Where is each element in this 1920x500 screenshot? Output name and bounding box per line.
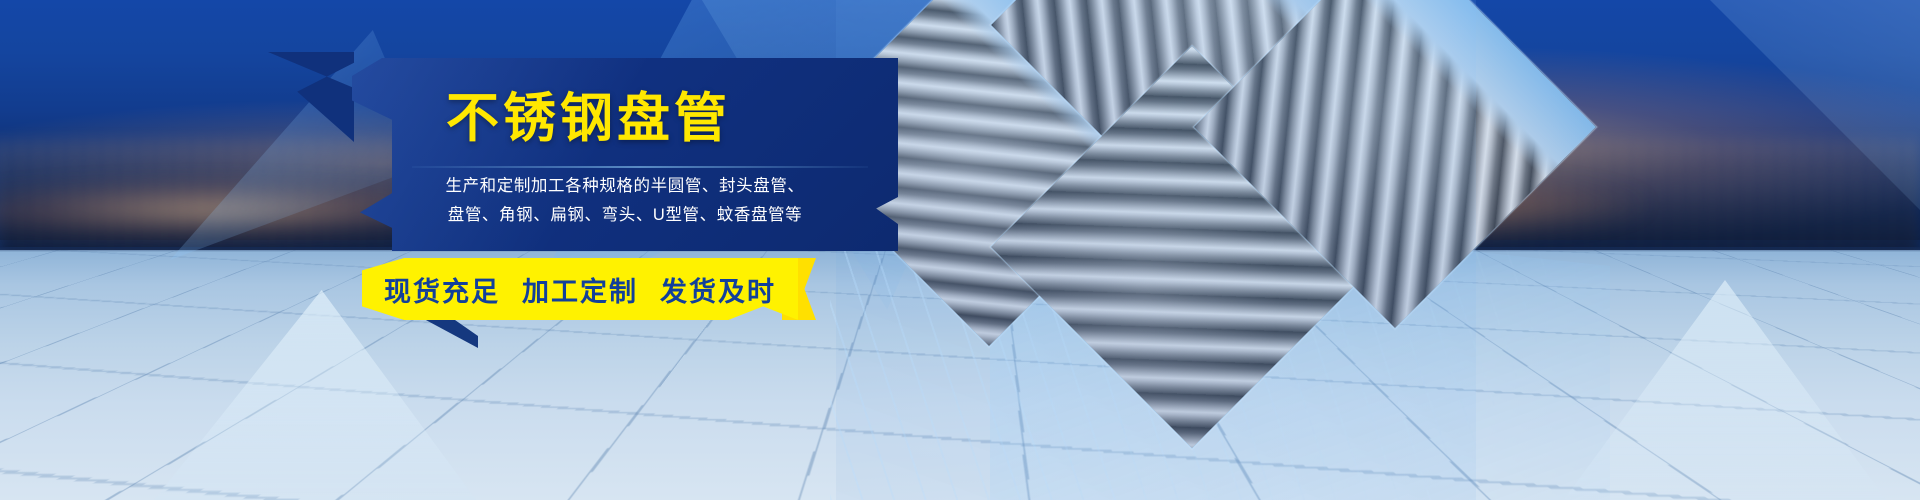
subtitle-line-2: 盘管、角钢、扁钢、弯头、U型管、蚊香盘管等 [352,201,898,225]
product-photo-collage [836,0,1476,500]
page-title: 不锈钢盘管 [446,92,876,145]
feature-item-2: 加工定制 [522,270,638,309]
feature-ribbon-text: 现货充足 加工定制 发货及时 [362,258,798,320]
promo-banner: 不锈钢盘管 生产和定制加工各种规格的半圆管、封头盘管、 盘管、角钢、扁钢、弯头、… [0,0,1920,500]
subtitle-line-1: 生产和定制加工各种规格的半圆管、封头盘管、 [352,172,898,196]
headline-divider [412,166,868,168]
feature-item-3: 发货及时 [660,270,776,309]
feature-item-1: 现货充足 [384,270,500,309]
